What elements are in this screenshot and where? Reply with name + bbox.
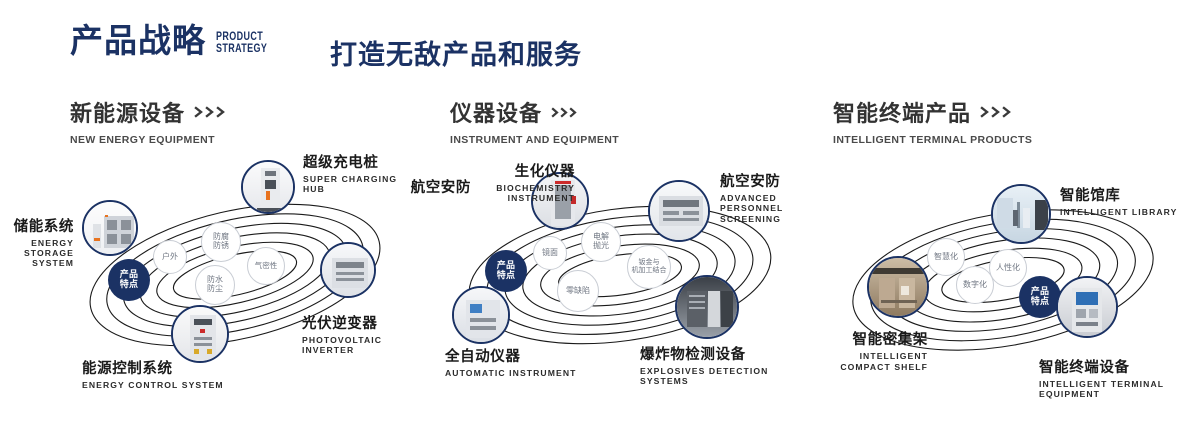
brand-title-en-line2: STRATEGY	[216, 43, 267, 55]
label-energy-storage: 储能系统 ENERGY STORAGE SYSTEM	[0, 215, 74, 268]
feature-bubble: 人性化	[989, 249, 1027, 287]
section-title-en: NEW ENERGY EQUIPMENT	[70, 134, 228, 146]
label-compact-shelf: 智能密集架 INTELLIGENT COMPACT SHELF	[818, 328, 928, 372]
brand-title-en-line1: PRODUCT	[216, 31, 267, 43]
core-badge: 产品特点	[108, 259, 150, 301]
feature-bubble: 钣金与机加工结合	[627, 245, 671, 289]
feature-bubble: 防腐防锈	[201, 222, 241, 262]
node-photovoltaic-inverter[interactable]	[320, 242, 376, 298]
section-title-en: INTELLIGENT TERMINAL PRODUCTS	[833, 134, 1032, 146]
chevrons-right-icon	[194, 106, 228, 118]
node-energy-control-system[interactable]	[171, 305, 229, 363]
label-terminal-equipment: 智能终端设备 INTELLIGENT TERMINAL EQUIPMENT	[1039, 356, 1193, 399]
section-title-cn: 智能终端产品	[833, 96, 971, 128]
brand-title-cn: 产品战略	[70, 24, 206, 57]
node-explosives-detection[interactable]	[675, 275, 739, 339]
feature-bubble: 数字化	[956, 266, 994, 304]
node-personnel-screening[interactable]	[648, 180, 710, 242]
section-title-en: INSTRUMENT AND EQUIPMENT	[450, 134, 619, 146]
brand-title-en: PRODUCT STRATEGY	[216, 31, 267, 55]
label-personnel-screening: 航空安防 ADVANCED PERSONNEL SCREENING	[720, 170, 820, 224]
feature-bubble: 零缺陷	[557, 270, 599, 312]
feature-bubble: 户外	[153, 240, 187, 274]
section-header-new-energy: 新能源设备 NEW ENERGY EQUIPMENT	[70, 96, 228, 146]
chevrons-right-icon	[551, 107, 581, 118]
cluster-instrument: 镜面 电解抛光 零缺陷 钣金与机加工结合 产品特点	[435, 160, 805, 390]
cluster-new-energy: 户外 防腐防锈 防水防尘 气密性 产品特点	[55, 160, 415, 390]
section-title-cn: 仪器设备	[450, 96, 542, 128]
node-intelligent-library[interactable]	[991, 184, 1051, 244]
feature-bubble: 智慧化	[927, 238, 965, 276]
feature-bubble: 镜面	[533, 236, 567, 270]
product-strategy-infographic: 产品战略 PRODUCT STRATEGY 打造无敌产品和服务 新能源设备 NE…	[0, 0, 1200, 422]
headline: 打造无敌产品和服务	[330, 33, 582, 72]
node-super-charging-hub[interactable]	[241, 160, 295, 214]
node-energy-storage[interactable]	[82, 200, 138, 256]
brand-header: 产品战略 PRODUCT STRATEGY	[70, 24, 282, 57]
label-photovoltaic-inverter: 光伏逆变器 PHOTOVOLTAIC INVERTER	[302, 312, 415, 355]
label-biochemistry-instrument: 生化仪器 BIOCHEMISTRY INSTRUMENT	[445, 160, 575, 204]
section-header-intelligent-terminal: 智能终端产品 INTELLIGENT TERMINAL PRODUCTS	[833, 96, 1032, 146]
label-explosives-detection: 爆炸物检测设备 EXPLOSIVES DETECTION SYSTEMS	[640, 343, 805, 386]
section-header-instrument: 仪器设备 INSTRUMENT AND EQUIPMENT	[450, 96, 619, 146]
feature-bubble: 电解抛光	[581, 222, 621, 262]
node-automatic-instrument[interactable]	[452, 286, 510, 344]
label-automatic-instrument: 全自动仪器 AUTOMATIC INSTRUMENT	[445, 345, 576, 378]
node-compact-shelf[interactable]	[867, 256, 929, 318]
section-title-cn: 新能源设备	[70, 96, 185, 128]
feature-bubble: 气密性	[247, 247, 285, 285]
label-intelligent-library: 智能馆库 INTELLIGENT LIBRARY	[1060, 184, 1178, 217]
label-energy-control-system: 能源控制系统 ENERGY CONTROL SYSTEM	[82, 357, 224, 390]
cluster-intelligent-terminal: 智慧化 数字化 人性化 产品特点	[823, 162, 1193, 392]
core-badge: 产品特点	[1019, 276, 1061, 318]
core-badge: 产品特点	[485, 250, 527, 292]
node-terminal-kiosk[interactable]	[1056, 276, 1118, 338]
chevrons-right-icon	[980, 106, 1014, 118]
feature-bubble: 防水防尘	[195, 265, 235, 305]
